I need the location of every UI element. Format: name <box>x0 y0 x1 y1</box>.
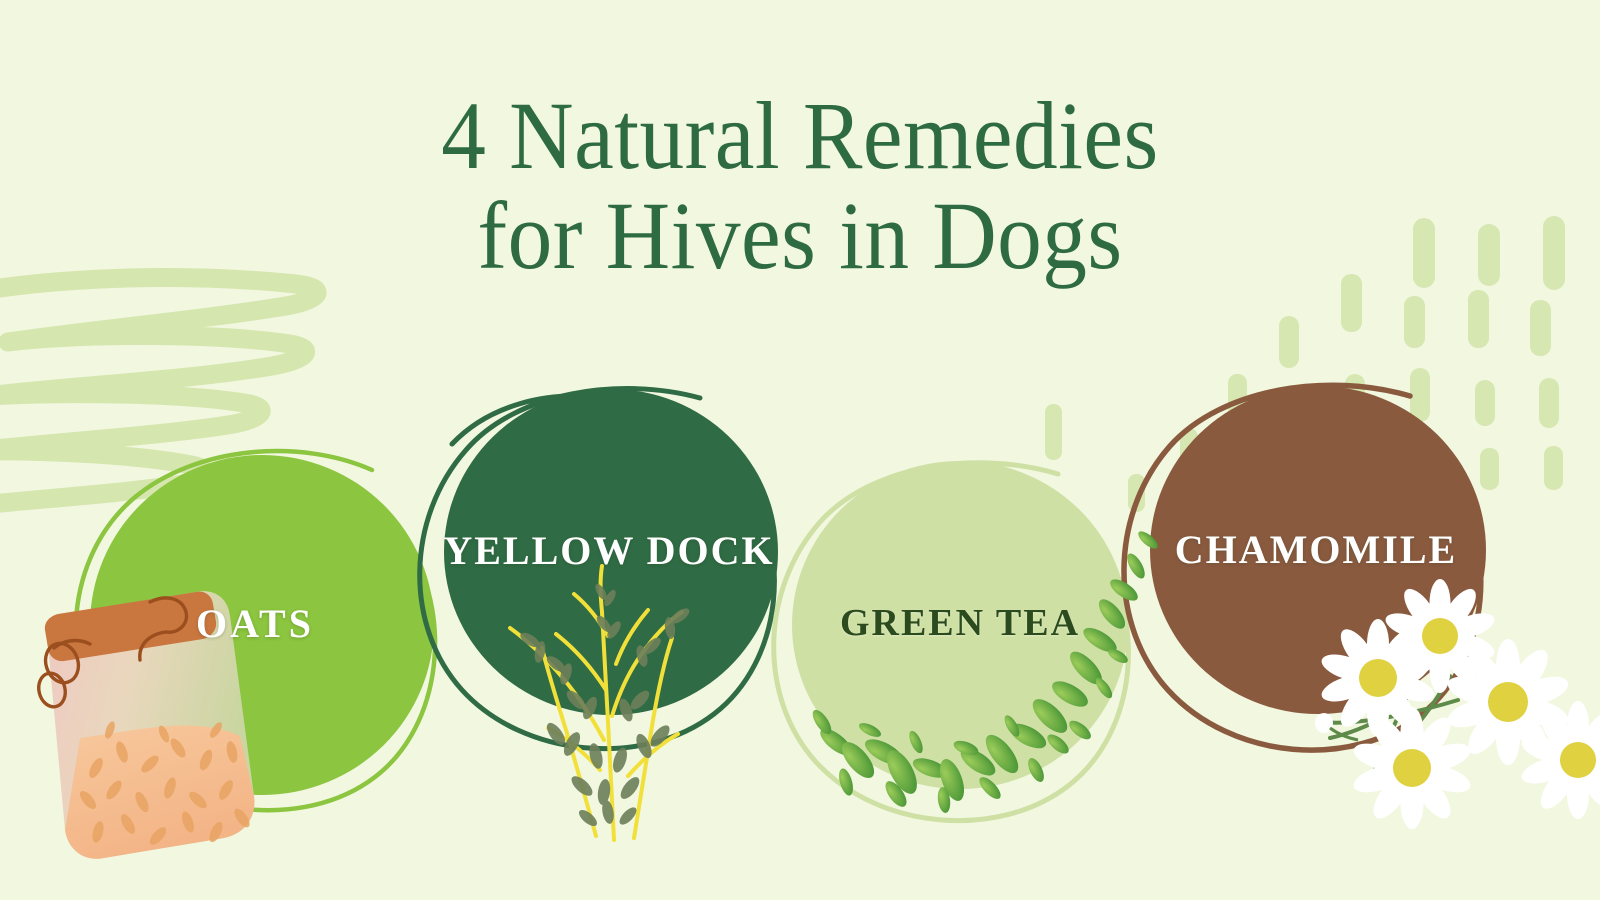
herb-leaves <box>518 582 692 829</box>
infographic-canvas: 4 Natural Remedies for Hives in Dogs OAT… <box>0 0 1600 900</box>
remedy-label-green-tea: GREEN TEA <box>790 601 1130 645</box>
remedy-label-yellow-dock: YELLOW DOCK <box>409 527 809 574</box>
daisies-icon <box>1315 579 1600 829</box>
page-title: 4 Natural Remedies for Hives in Dogs <box>0 86 1600 286</box>
title-line-1: 4 Natural Remedies <box>56 86 1544 186</box>
tea-leaves-icon <box>809 528 1160 813</box>
title-line-2: for Hives in Dogs <box>56 186 1544 286</box>
herb-bundle-icon <box>510 566 692 840</box>
remedy-label-chamomile: CHAMOMILE <box>1126 526 1506 573</box>
remedy-label-oats: OATS <box>105 600 405 647</box>
